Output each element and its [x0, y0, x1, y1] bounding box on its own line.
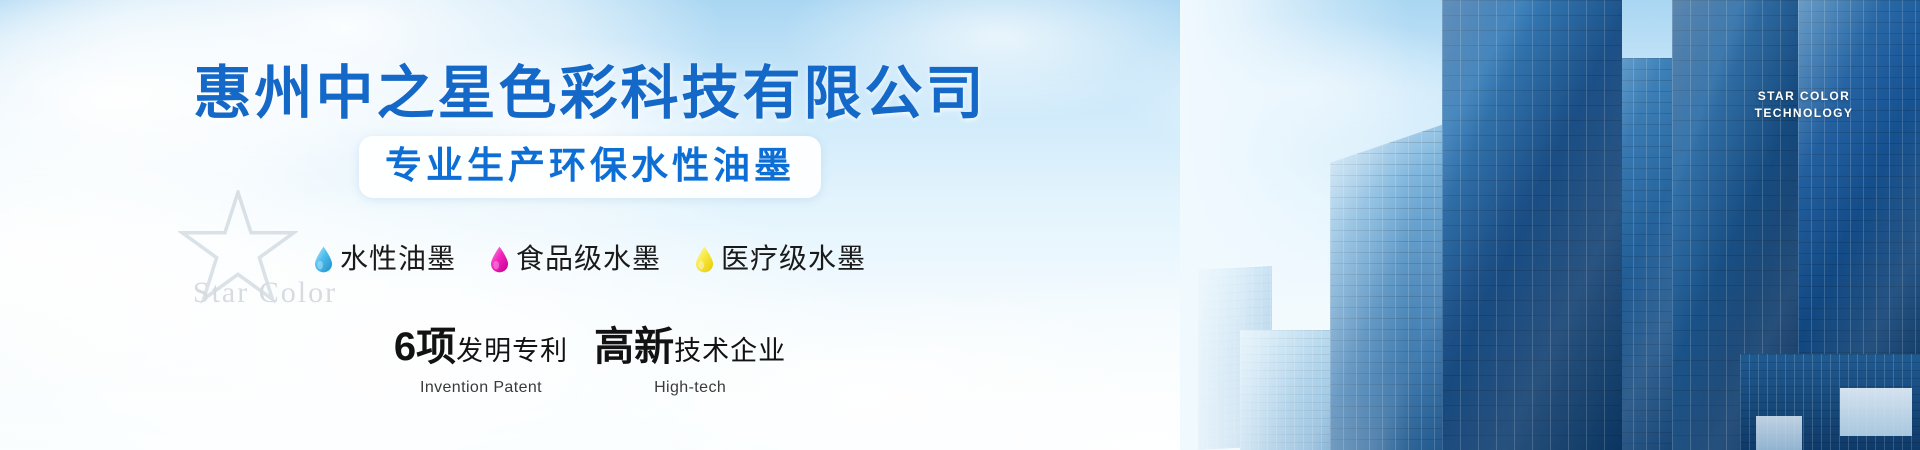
feature-item-1: 食品级水墨 — [490, 243, 661, 275]
building-6 — [1672, 0, 1824, 450]
badge-item-1: 高新技术企业 High-tech — [594, 326, 786, 397]
building-9 — [1402, 300, 1460, 450]
building-1 — [1198, 266, 1272, 450]
banner-content: 惠州中之星色彩科技有限公司 专业生产环保水性油墨 水性油 — [0, 0, 1180, 450]
feature-label-0: 水性油墨 — [340, 243, 456, 275]
feature-label-2: 医疗级水墨 — [721, 243, 866, 275]
feature-item-0: 水性油墨 — [314, 243, 456, 275]
badge-item-0: 6项发明专利 Invention Patent — [394, 326, 568, 397]
company-hero-banner: Star Color STAR COLOR TECHNOLOGY 惠州中之星色彩… — [0, 0, 1920, 450]
building-white-panel-2 — [1756, 416, 1802, 450]
building-3 — [1330, 120, 1456, 450]
subtitle-pill: 专业生产环保水性油墨 — [359, 136, 821, 198]
badge-en-0: Invention Patent — [394, 379, 568, 397]
badge-rest-1: 技术企业 — [674, 336, 786, 366]
building-white-panel — [1840, 388, 1912, 436]
feature-label-1: 食品级水墨 — [516, 243, 661, 275]
city-skyline-image — [1180, 0, 1920, 450]
badge-rest-0: 发明专利 — [456, 336, 568, 366]
building-sign-line2: TECHNOLOGY — [1744, 105, 1864, 122]
water-drop-icon — [314, 246, 333, 273]
water-drop-icon — [695, 246, 714, 273]
badge-list: 6项发明专利 Invention Patent 高新技术企业 High-tech — [0, 326, 1180, 397]
skyline-fade-overlay — [1180, 0, 1410, 450]
badge-en-1: High-tech — [594, 379, 786, 397]
badge-cn-1: 高新技术企业 — [594, 326, 786, 377]
feature-list: 水性油墨 食品级水墨 — [0, 243, 1180, 275]
badge-strong-1: 高新 — [594, 325, 674, 369]
building-7-sign-tower — [1798, 0, 1920, 450]
building-sign: STAR COLOR TECHNOLOGY — [1744, 88, 1864, 122]
badge-cn-0: 6项发明专利 — [394, 326, 568, 377]
building-4-main-tower — [1442, 0, 1622, 450]
building-sign-line1: STAR COLOR — [1744, 88, 1864, 105]
water-drop-icon — [490, 246, 509, 273]
building-2 — [1240, 330, 1360, 450]
building-8-podium — [1740, 354, 1920, 450]
building-5 — [1594, 58, 1690, 450]
badge-strong-0: 6项 — [394, 325, 456, 369]
company-title: 惠州中之星色彩科技有限公司 — [0, 62, 1180, 126]
subtitle-container: 专业生产环保水性油墨 — [0, 136, 1180, 198]
feature-item-2: 医疗级水墨 — [695, 243, 866, 275]
